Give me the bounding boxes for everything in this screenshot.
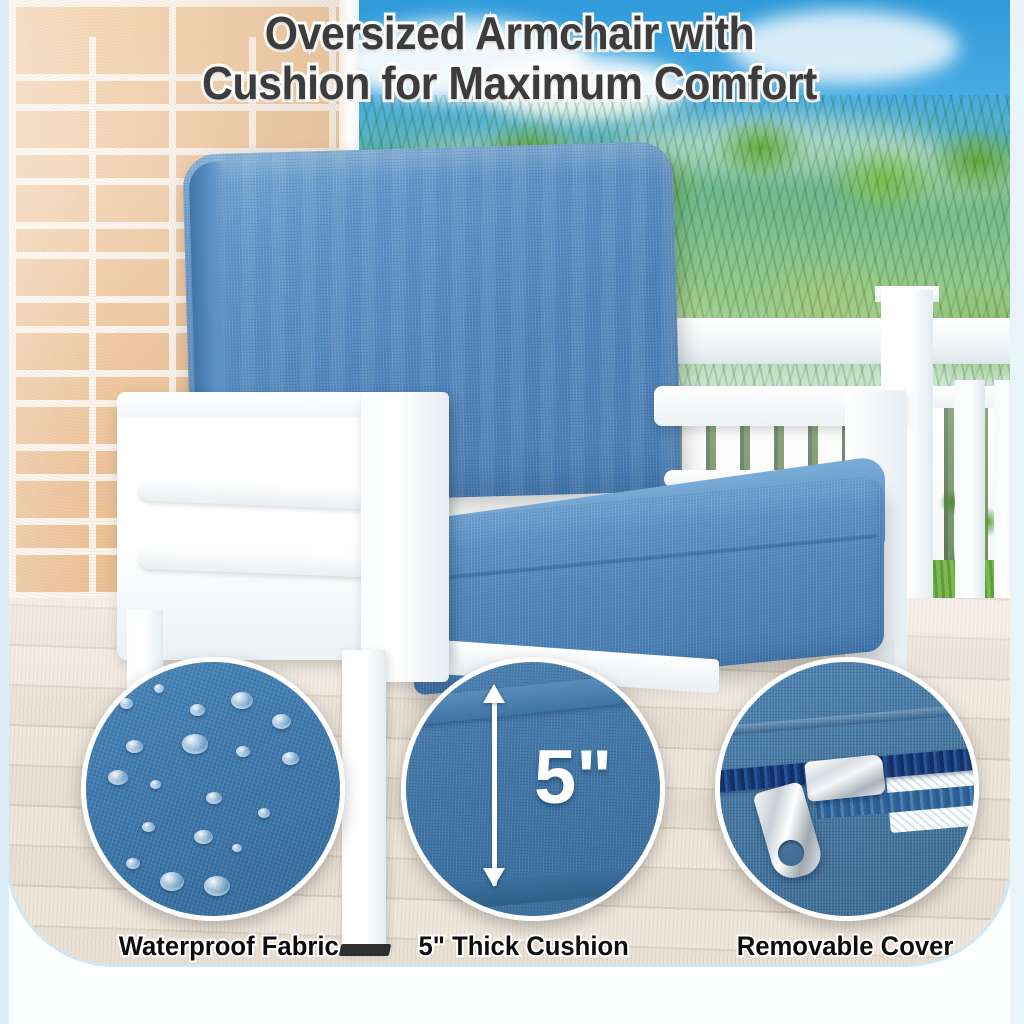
water-droplet-icon (272, 714, 291, 729)
frame-bottom-edge (0, 1008, 1024, 1024)
measurement-label: 5" (534, 740, 612, 816)
water-droplet-icon (150, 780, 161, 789)
feature-callout-removable-cover (715, 657, 979, 921)
caption-removable-cover: Removable Cover (737, 931, 954, 962)
product-photo: Oversized Armchair with Cushion for Maxi… (9, 0, 1010, 964)
water-droplet-icon (160, 872, 184, 891)
measurement-arrow-up-icon (483, 684, 505, 703)
leg-foot-pad (339, 944, 392, 956)
left-arm-side-panel (361, 392, 449, 682)
water-droplet-icon (258, 808, 270, 818)
water-droplet-icon (126, 740, 143, 753)
product-infographic: Oversized Armchair with Cushion for Maxi… (0, 0, 1024, 1024)
measurement-arrow-down-icon (483, 868, 505, 887)
measurement-arrow-line (492, 698, 497, 886)
caption-thick-cushion: 5" Thick Cushion (419, 931, 629, 962)
caption-waterproof-fabric: Waterproof Fabric (119, 931, 339, 962)
water-droplet-icon (126, 858, 140, 869)
feature-callout-waterproof-fabric (81, 657, 345, 921)
water-droplet-icon (232, 844, 242, 852)
water-droplet-icon (182, 734, 208, 754)
water-droplet-icon (154, 684, 164, 693)
water-droplet-icon (194, 830, 213, 844)
headline-line-2: Cushion for Maximum Comfort (44, 58, 975, 108)
zipper-slider-icon (804, 754, 886, 802)
water-droplet-icon (142, 822, 155, 832)
headline-line-1: Oversized Armchair with (44, 8, 975, 58)
water-droplet-icon (231, 692, 253, 709)
water-droplet-icon (282, 752, 299, 765)
water-droplet-icon (190, 704, 205, 716)
water-droplet-icon (236, 746, 250, 757)
water-droplet-icon (204, 876, 230, 896)
water-droplet-icon (120, 698, 133, 709)
front-left-leg (342, 650, 386, 950)
headline: Oversized Armchair with Cushion for Maxi… (44, 8, 975, 108)
water-droplet-icon (108, 770, 128, 785)
water-droplet-icon (206, 792, 222, 804)
feature-callout-thick-cushion: 5" (401, 657, 665, 921)
